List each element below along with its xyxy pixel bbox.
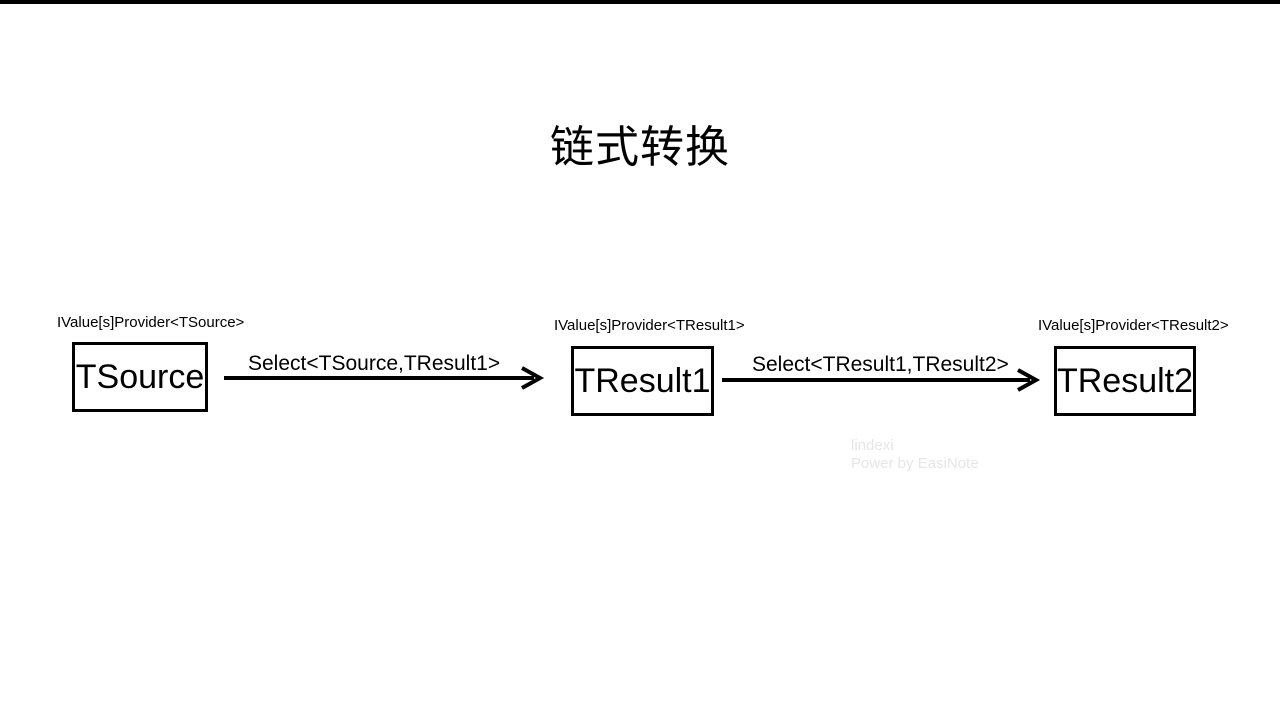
node-caption-tresult1: IValue[s]Provider<TResult1> (554, 317, 745, 335)
top-accent-bar (0, 0, 1280, 4)
arrow-tsource-to-tresult1 (224, 366, 544, 390)
node-caption-tsource: IValue[s]Provider<TSource> (57, 314, 244, 332)
node-tresult2[interactable]: TResult2 (1054, 346, 1196, 416)
node-label-tresult1: TResult1 (574, 364, 710, 398)
node-label-tsource: TSource (76, 360, 205, 394)
node-tresult1[interactable]: TResult1 (571, 346, 714, 416)
watermark-author: lindexi (851, 437, 979, 455)
node-caption-tresult2: IValue[s]Provider<TResult2> (1038, 317, 1229, 335)
slide-canvas: 链式转换 IValue[s]Provider<TSource> TSource … (0, 0, 1280, 720)
arrow-tresult1-to-tresult2 (722, 368, 1040, 392)
watermark: lindexi Power by EasiNote (851, 437, 979, 473)
node-label-tresult2: TResult2 (1057, 364, 1193, 398)
page-title: 链式转换 (0, 118, 1280, 178)
node-tsource[interactable]: TSource (72, 342, 208, 412)
watermark-powered-by: Power by EasiNote (851, 455, 979, 473)
